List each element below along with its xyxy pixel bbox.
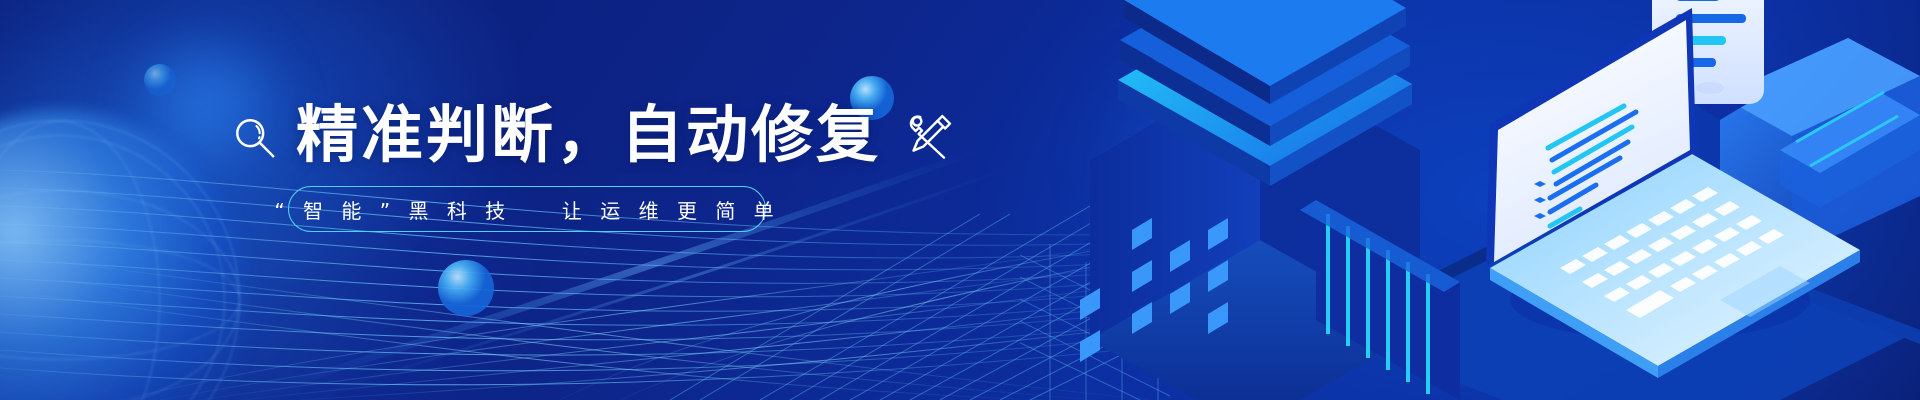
isometric-illustration <box>1020 0 1920 400</box>
subtitle-pill: “ 智 能 ” 黑 科 技 让 运 维 更 简 单 <box>288 186 766 232</box>
wrench-screwdriver-icon <box>905 109 957 161</box>
hero-banner: 精准判断，自动修复 “ 智 能 ” 黑 科 技 让 运 维 更 简 单 <box>0 0 1920 400</box>
banner-content: 精准判断，自动修复 “ 智 能 ” 黑 科 技 让 运 维 更 简 单 <box>0 0 1060 400</box>
headline-row: 精准判断，自动修复 <box>232 104 957 166</box>
subtitle-text: “ 智 能 ” 黑 科 技 让 运 维 更 简 单 <box>274 195 779 224</box>
search-magnifier-icon <box>232 115 278 161</box>
page-title: 精准判断，自动修复 <box>296 104 881 166</box>
